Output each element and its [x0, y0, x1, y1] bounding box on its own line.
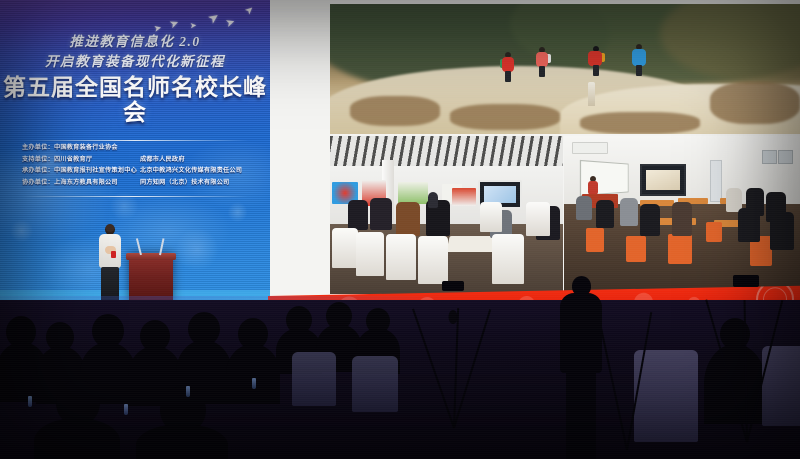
window — [762, 150, 777, 164]
led-wall: ➤ ➤ ➤ ➤ ➤ ➤ 推进教育信息化 2.0 开启教育装备现代化新征程 第五届… — [0, 0, 800, 318]
credit-label: 支持单位： — [22, 156, 54, 163]
banner-main-title: 第五届全国名师名校长峰会 — [0, 75, 270, 126]
credit-label: 主办单位： — [22, 144, 54, 151]
operator-body — [560, 293, 602, 373]
exhibit-poster — [398, 182, 428, 204]
dry-brush — [710, 82, 800, 124]
projection-screen — [640, 164, 686, 196]
video-camera — [733, 275, 759, 287]
water-bottle — [124, 404, 128, 415]
bird-icon: ➤ — [205, 9, 221, 26]
white-chair — [492, 234, 524, 284]
water-bottle — [186, 386, 190, 397]
camera-operator — [556, 276, 608, 459]
photo-meeting-room — [330, 136, 563, 294]
child-jacket — [536, 52, 548, 67]
white-chair — [386, 234, 416, 280]
credit-org: 上海东方教具有限公司 — [54, 179, 118, 186]
divider-bottom — [22, 196, 248, 197]
credit-label: 承办单位： — [22, 167, 54, 174]
tripod-leg — [453, 309, 491, 428]
credit-label: 协办单位： — [22, 179, 54, 186]
window — [778, 150, 793, 164]
dry-brush — [450, 104, 560, 130]
student-silhouette — [576, 196, 592, 220]
audience-shoulders — [226, 344, 280, 404]
camera-tripod-left — [418, 288, 488, 428]
bird-icon: ➤ — [244, 4, 257, 17]
credit-org-secondary: 同方知网（北京）技术有限公司 — [140, 180, 250, 186]
white-chair — [418, 236, 448, 284]
student-silhouette — [672, 202, 692, 236]
orange-chair — [706, 222, 722, 242]
divider-top — [22, 140, 248, 141]
water-bottle — [252, 378, 256, 389]
credit-org-secondary: 成都市人民政府 — [140, 157, 250, 163]
orange-chair — [668, 234, 692, 264]
student-silhouette — [620, 198, 638, 226]
organizer-credits: 主办单位：中国教育装备行业协会 支持单位：四川省教育厅 成都市人民政府 承办单位… — [22, 145, 254, 191]
covered-chair — [352, 356, 398, 412]
student-silhouette — [770, 212, 794, 250]
trail-marker-post — [588, 82, 595, 106]
child-legs — [539, 66, 545, 77]
tripod-leg — [744, 300, 748, 442]
camera-tripod-right — [706, 282, 786, 442]
attendee-silhouette — [370, 198, 392, 230]
audience-shoulders — [34, 418, 120, 459]
conference-stage-photograph: ➤ ➤ ➤ ➤ ➤ ➤ 推进教育信息化 2.0 开启教育装备现代化新征程 第五届… — [0, 0, 800, 459]
audience-shoulders — [136, 424, 228, 459]
white-chair — [480, 202, 502, 232]
operator-legs — [566, 370, 596, 459]
attendee-silhouette — [396, 202, 420, 236]
exhibit-poster — [452, 188, 476, 206]
credit-org: 中国教育报刊社宣传策划中心 — [54, 167, 137, 174]
photo-classroom — [564, 136, 800, 294]
credit-row: 协办单位：上海东方教具有限公司 同方知网（北京）技术有限公司 — [22, 180, 254, 186]
banner-subtitle-line2: 开启教育装备现代化新征程 — [0, 52, 270, 72]
student-silhouette — [738, 208, 760, 242]
ceiling-slats — [330, 136, 563, 170]
child-legs — [636, 65, 642, 76]
tripod-leg — [746, 300, 783, 442]
dry-brush — [350, 96, 440, 126]
hiking-child — [536, 47, 548, 77]
student-silhouette — [640, 204, 660, 236]
tripod-leg — [412, 309, 455, 429]
child-jacket — [588, 51, 602, 66]
event-banner: ➤ ➤ ➤ ➤ ➤ ➤ 推进教育信息化 2.0 开启教育装备现代化新征程 第五届… — [0, 0, 270, 312]
hiking-child — [632, 44, 647, 74]
video-camera — [442, 281, 464, 291]
attendee-silhouette — [348, 200, 368, 230]
credit-org-secondary — [140, 145, 250, 151]
presenter-silhouette — [428, 192, 438, 208]
air-conditioner — [572, 142, 608, 154]
teacher-body — [588, 181, 598, 195]
bird-icon: ➤ — [190, 22, 197, 31]
bird-icon: ➤ — [225, 17, 237, 30]
credit-row: 承办单位：中国教育报刊社宣传策划中心 北京中教鸿兴文化传媒有限责任公司 — [22, 168, 254, 174]
photo-hiking — [330, 4, 800, 134]
banner-title-block: 推进教育信息化 2.0 开启教育装备现代化新征程 第五届全国名师名校长峰会 — [0, 32, 270, 126]
white-chair — [526, 202, 550, 236]
credit-org: 四川省教育厅 — [54, 156, 92, 163]
hiking-child — [588, 46, 604, 76]
white-chair — [332, 228, 358, 268]
speaker-badge — [111, 251, 116, 258]
orange-chair — [626, 236, 646, 262]
tripod-leg — [626, 312, 652, 450]
hiking-child — [502, 52, 514, 82]
child-jacket — [632, 49, 646, 66]
student-silhouette — [596, 200, 614, 228]
microphone — [136, 238, 142, 255]
credit-org-secondary: 北京中教鸿兴文化传媒有限责任公司 — [140, 168, 250, 174]
microphone — [159, 238, 164, 255]
child-legs — [593, 65, 599, 76]
orange-chair — [586, 228, 604, 252]
credit-row: 支持单位：四川省教育厅 成都市人民政府 — [22, 157, 254, 163]
banner-subtitle-line1: 推进教育信息化 2.0 — [0, 32, 270, 52]
tripod-leg — [705, 299, 748, 442]
classroom-door — [710, 160, 722, 202]
bird-icon: ➤ — [168, 18, 181, 32]
credit-row: 主办单位：中国教育装备行业协会 — [22, 145, 254, 151]
white-chair — [356, 232, 384, 276]
child-legs — [505, 71, 511, 82]
child-jacket — [502, 57, 514, 72]
covered-chair — [292, 352, 336, 406]
water-bottle — [28, 396, 32, 407]
dry-brush — [580, 112, 700, 134]
credit-org: 中国教育装备行业协会 — [54, 144, 118, 151]
